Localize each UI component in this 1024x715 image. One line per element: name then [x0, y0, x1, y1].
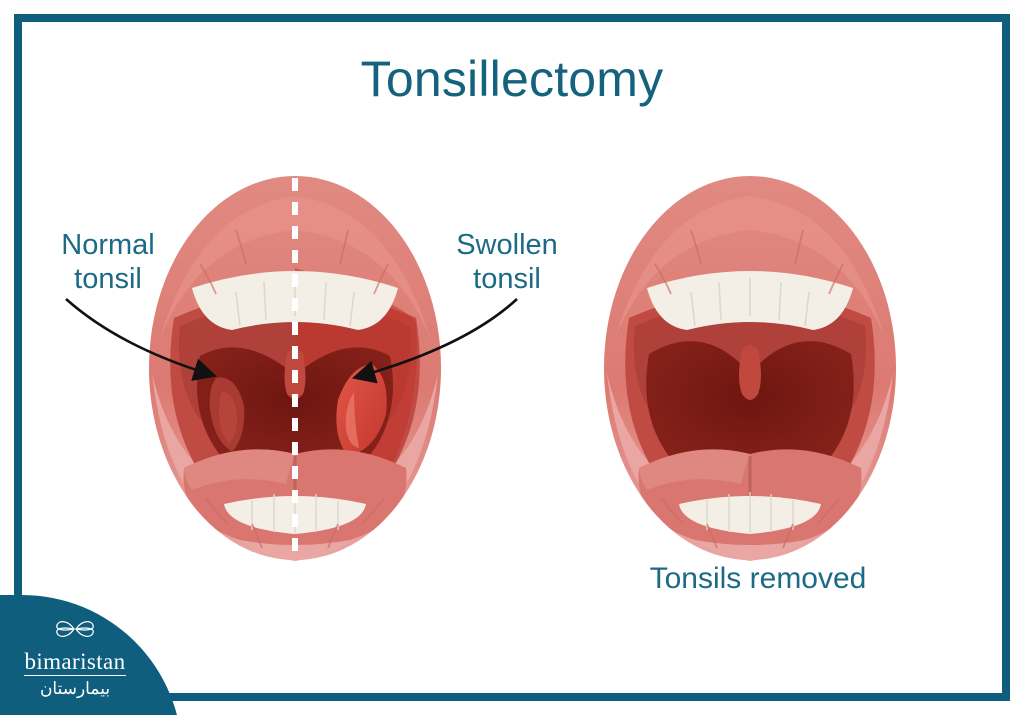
page-title: Tonsillectomy	[0, 50, 1024, 108]
brand-logo: bimaristan بيمارستان	[0, 595, 182, 715]
caption-tonsils-removed: Tonsils removed	[608, 562, 908, 596]
figure-mouth-after	[595, 168, 905, 568]
arrow-path	[357, 299, 517, 377]
label-swollen-tonsil: Swollen tonsil	[418, 228, 596, 296]
logo-wordmark-wrap: bimaristan	[0, 650, 150, 676]
uvula	[739, 345, 761, 400]
arrow-path	[66, 299, 212, 375]
butterfly-leaf-icon	[53, 616, 97, 642]
label-normal-tonsil: Normal tonsil	[18, 228, 198, 296]
illustration-page: Tonsillectomy	[0, 0, 1024, 715]
logo-wordmark: bimaristan	[24, 650, 125, 676]
arrow-swollen-tonsil	[335, 285, 525, 395]
logo-content: bimaristan بيمارستان	[0, 616, 150, 699]
arrow-normal-tonsil	[60, 285, 260, 395]
logo-arabic: بيمارستان	[0, 679, 150, 699]
